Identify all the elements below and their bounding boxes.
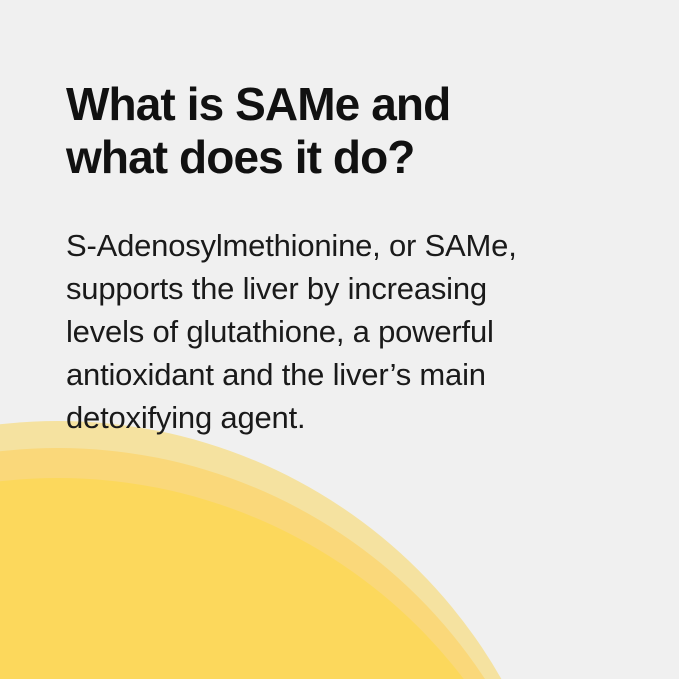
decorative-arc-inner-band [0,478,568,679]
decorative-arc-middle-band [0,448,568,679]
info-card: What is SAMe and what does it do? S-Aden… [0,0,679,679]
page-title: What is SAMe and what does it do? [66,78,626,184]
text-content: What is SAMe and what does it do? S-Aden… [66,78,626,439]
body-paragraph: S-Adenosylmethionine, or SAMe, supports … [66,184,626,439]
decorative-arc-outer-band [0,421,568,679]
